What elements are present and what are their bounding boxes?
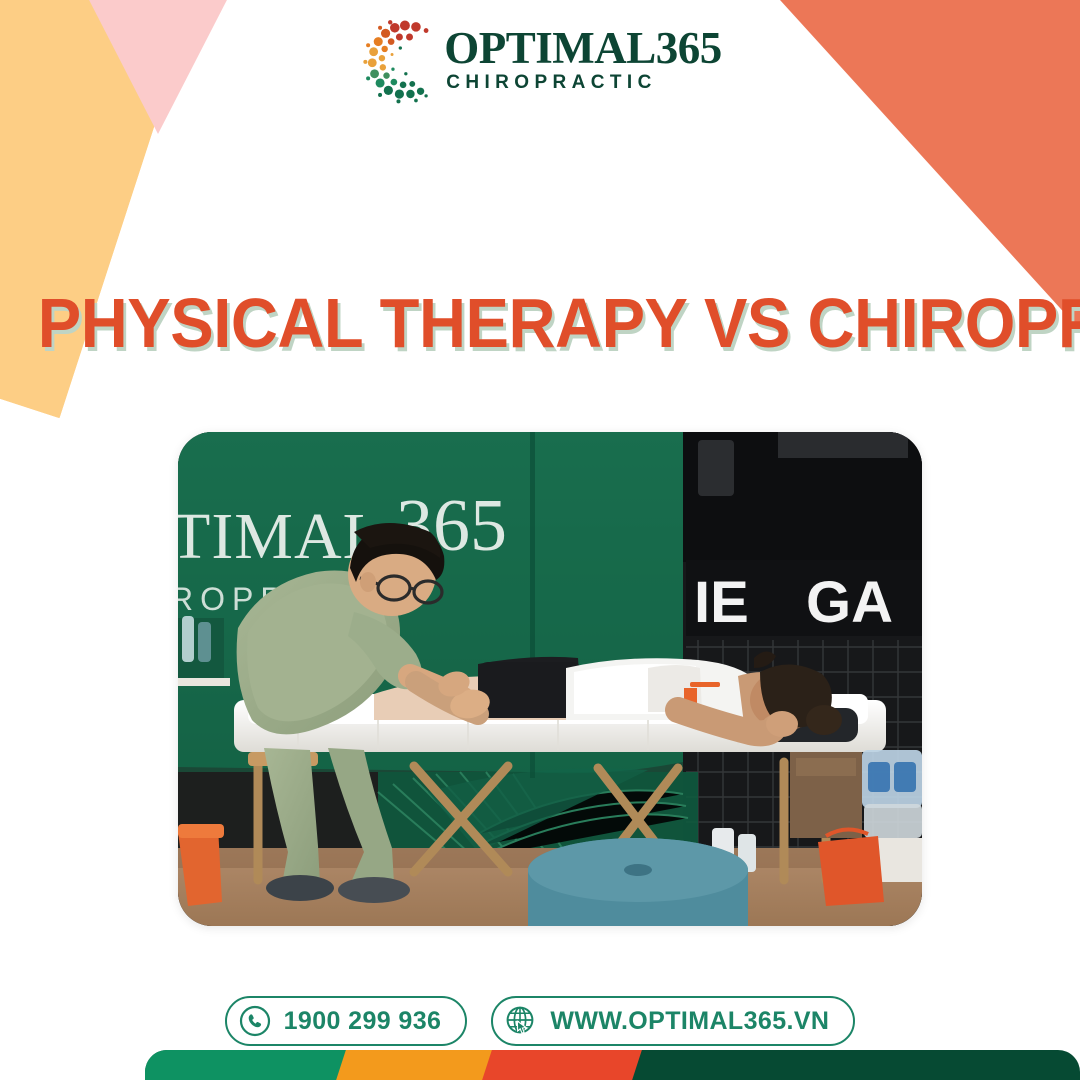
dot-spiral-icon: [358, 14, 450, 106]
footer-segment-orange: [336, 1050, 496, 1080]
svg-text:GA: GA: [806, 570, 893, 635]
logo-subtitle: CHIROPRACTIC: [444, 71, 656, 95]
footer-segment-red: [482, 1050, 642, 1080]
footer-segment-green: [145, 1050, 350, 1080]
phone-badge[interactable]: 1900 299 936: [225, 996, 468, 1046]
phone-circle-icon: [239, 1005, 271, 1037]
svg-text:IE: IE: [694, 570, 749, 635]
footer-bar: [145, 1050, 1080, 1080]
logo-title: OPTIMAL365: [444, 26, 722, 70]
contact-bar: 1900 299 936 WWW.OPTIMAL365.VN: [0, 996, 1080, 1046]
globe-cursor-icon: [505, 1005, 537, 1037]
hero-photo-illustration: TIMAL 365 ROPRA IE GA: [178, 432, 922, 926]
brand-logo: OPTIMAL365 CHIROPRACTIC: [0, 14, 1080, 106]
phone-number: 1900 299 936: [284, 1007, 442, 1036]
website-url: WWW.OPTIMAL365.VN: [550, 1007, 829, 1036]
hero-photo: TIMAL 365 ROPRA IE GA: [178, 432, 922, 926]
page-title: PHYSICAL THERAPY VS CHIROPRACTIC: [38, 288, 1042, 358]
website-badge[interactable]: WWW.OPTIMAL365.VN: [491, 996, 855, 1046]
